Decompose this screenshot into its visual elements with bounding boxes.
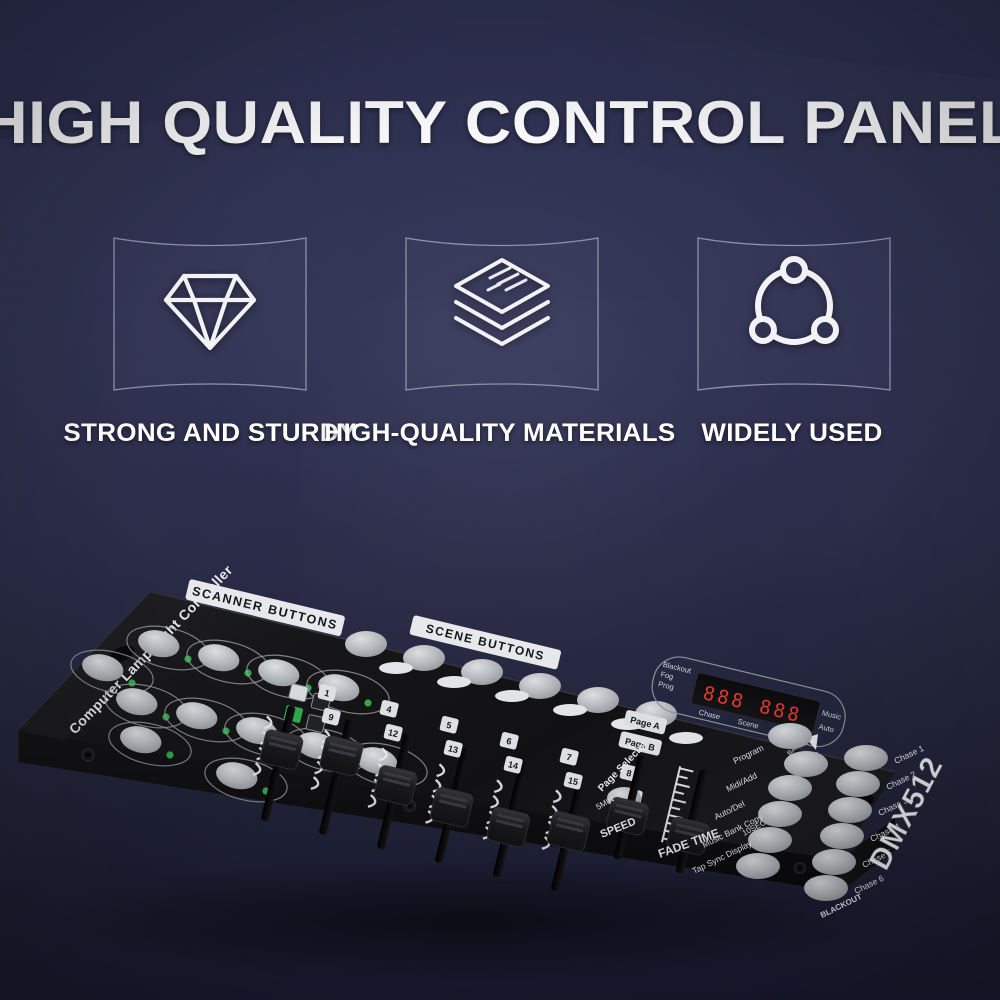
- function-button: [748, 827, 792, 853]
- display-right-labels: Music Auto: [818, 708, 843, 735]
- feature-panel-strong-and-sturdy: [112, 232, 308, 396]
- function-button: [768, 723, 812, 749]
- function-button: [758, 801, 802, 827]
- feature-captions: STRONG AND STURDY HIGH-QUALITY MATERIALS…: [0, 418, 1000, 458]
- feature-panel-widely-used: [696, 232, 892, 396]
- function-button: [784, 751, 828, 777]
- diamond-icon: [112, 254, 308, 358]
- feature-panel-high-quality-materials: [404, 232, 600, 396]
- chase-button: [820, 823, 864, 849]
- product-image-dmx512-controller: Computer Lamp Light Controller SCANNER B…: [0, 520, 1000, 1000]
- page-title: HIGH QUALITY CONTROL PANEL: [0, 92, 1000, 154]
- function-button: [736, 853, 780, 879]
- chase-button: [828, 797, 872, 823]
- chase-button: [812, 849, 856, 875]
- svg-text:Music: Music: [821, 708, 842, 721]
- function-button: [768, 775, 812, 801]
- layers-icon: [404, 254, 600, 358]
- share-network-icon: [696, 254, 892, 358]
- chase-button: [836, 771, 880, 797]
- promo-banner: HIGH QUALITY CONTROL PANEL: [0, 0, 1000, 1000]
- chase-button: [844, 745, 888, 771]
- scene-button: [345, 631, 387, 657]
- svg-text:Auto: Auto: [818, 722, 835, 734]
- display-left-labels: Blackout Fog Prog: [657, 660, 693, 695]
- feature-caption-2: WIDELY USED: [605, 418, 979, 448]
- chase-button: [804, 875, 848, 901]
